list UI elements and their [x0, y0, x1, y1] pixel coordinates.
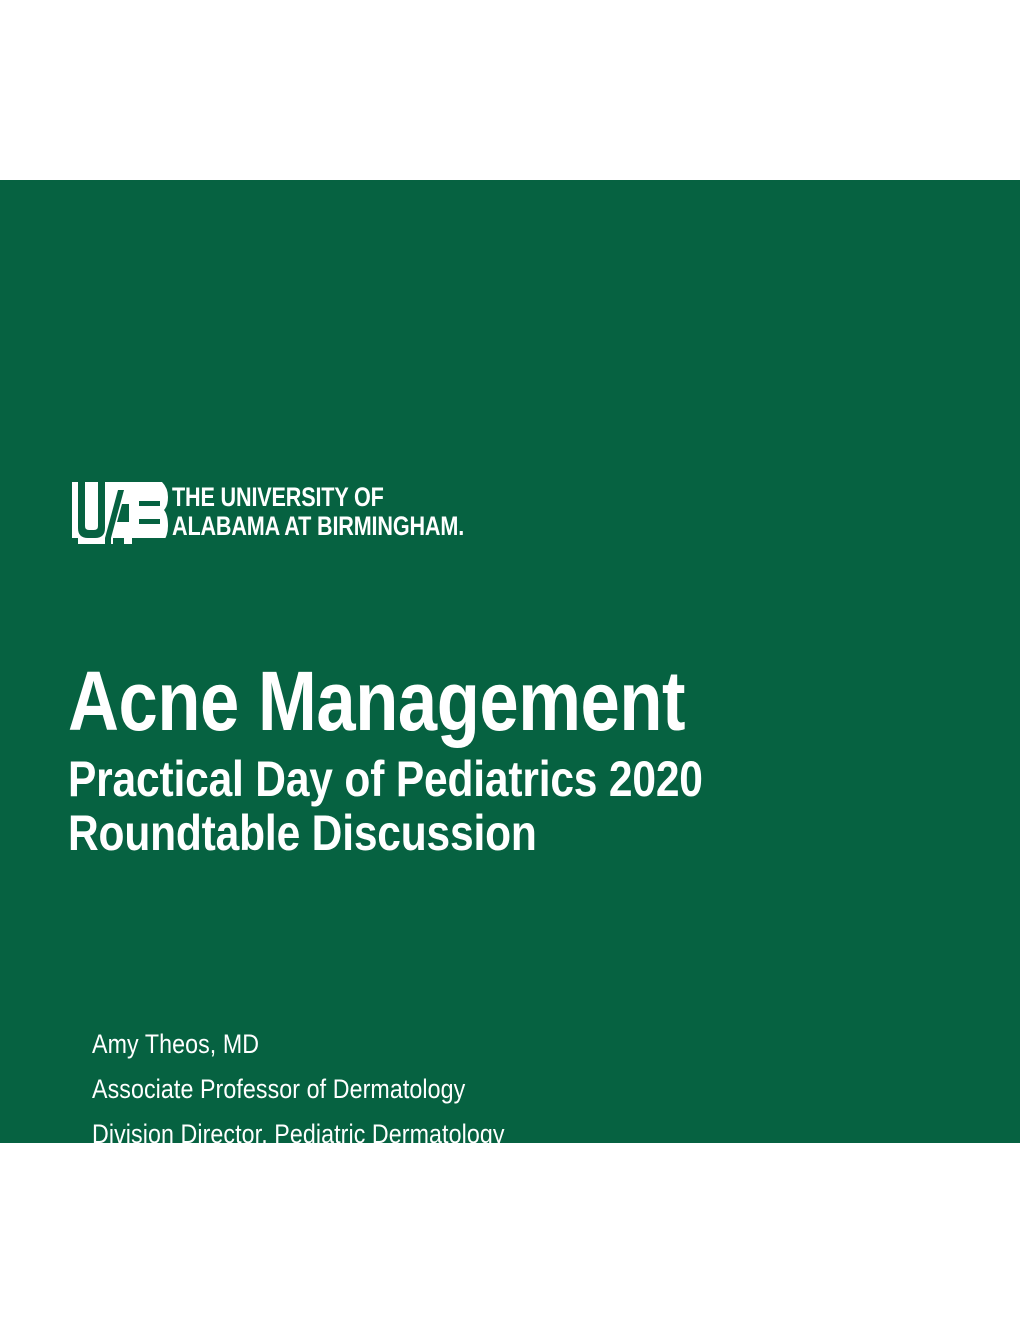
slide-title: Acne Management [68, 658, 740, 744]
uab-wordmark-line-2: ALABAMA AT BIRMINGHAM. [172, 512, 464, 541]
uab-wordmark-line-1: THE UNIVERSITY OF [172, 483, 464, 512]
title-block: Acne Management Practical Day of Pediatr… [68, 658, 868, 860]
presenter-name: Amy Theos, MD [92, 1022, 694, 1067]
uab-block-mark-icon [72, 482, 168, 544]
title-slide: THE UNIVERSITY OF ALABAMA AT BIRMINGHAM.… [0, 180, 1020, 1143]
uab-logo: THE UNIVERSITY OF ALABAMA AT BIRMINGHAM. [72, 482, 537, 544]
slide-page: THE UNIVERSITY OF ALABAMA AT BIRMINGHAM.… [0, 0, 1020, 1320]
uab-wordmark: THE UNIVERSITY OF ALABAMA AT BIRMINGHAM. [172, 483, 464, 541]
presenter-title: Associate Professor of Dermatology [92, 1067, 694, 1112]
presenter-block: Amy Theos, MD Associate Professor of Der… [92, 1022, 792, 1157]
subtitle-line: Roundtable Discussion [68, 806, 748, 860]
presenter-role: Division Director, Pediatric Dermatology [92, 1112, 694, 1157]
subtitle-line: Practical Day of Pediatrics 2020 [68, 752, 748, 806]
subtitle-list: Practical Day of Pediatrics 2020 Roundta… [68, 752, 868, 860]
